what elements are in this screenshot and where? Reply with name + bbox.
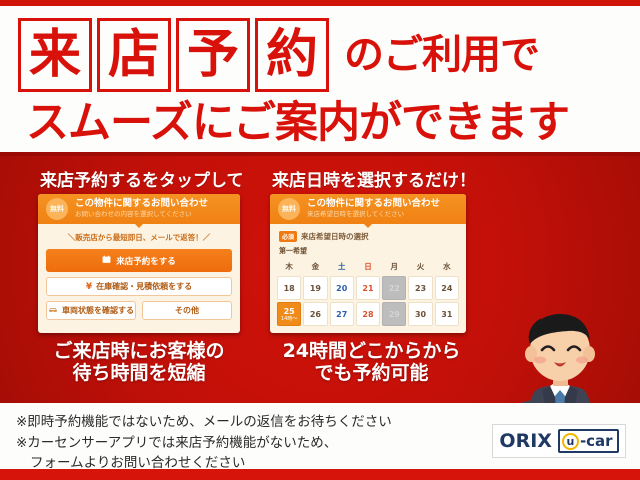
car-icon — [48, 306, 58, 315]
orix-wordmark: ORIX — [499, 430, 552, 452]
headline-kanji-3: 予 — [176, 18, 250, 92]
calendar-card-header: 無料 この物件に関するお問い合わせ 来店希望日時を選択してください — [270, 194, 466, 224]
preference-label: 第一希望 — [279, 246, 466, 256]
headline-kanji-4: 約 — [255, 18, 329, 92]
reserve-visit-label: 来店予約をする — [116, 255, 176, 267]
calendar-day[interactable]: 28 — [356, 302, 380, 326]
calendar-weekday-row: 木 金 土 日 月 火 水 — [277, 259, 459, 274]
headline-block: 来 店 予 約 のご利用で スムーズにご案内ができます — [0, 6, 640, 152]
calendar-day[interactable]: 26 — [303, 302, 327, 326]
stock-estimate-button[interactable]: ¥ 在庫確認・見積依頼をする — [46, 277, 232, 296]
weekday-mon: 月 — [382, 259, 406, 274]
calendar-day[interactable]: 21 — [356, 276, 380, 300]
header-notch — [134, 223, 144, 228]
calendar-day[interactable]: 20 — [330, 276, 354, 300]
selected-day-number: 25 — [284, 307, 295, 316]
ucar-badge: u -car — [558, 429, 619, 453]
panel-top-edge — [0, 152, 640, 156]
calendar-section-label: 必須 来店希望日時の選択 — [279, 231, 466, 242]
left-caption: ご来店時にお客様の 待ち時間を短縮 — [14, 340, 264, 385]
calendar-week-row: 18 19 20 21 22 23 24 — [277, 274, 459, 300]
headline-tail: のご利用で — [344, 35, 539, 75]
card-header-subtitle: お問い合わせの内容を選択してください — [75, 211, 208, 218]
calendar-day[interactable]: 27 — [330, 302, 354, 326]
headline-kanji-1: 来 — [18, 18, 92, 92]
selected-day-time: 14時〜 — [281, 317, 297, 322]
date-selection-card: 無料 この物件に関するお問い合わせ 来店希望日時を選択してください 必須 来店希… — [270, 194, 466, 333]
calendar-header-texts: この物件に関するお問い合わせ 来店希望日時を選択してください — [307, 199, 440, 218]
free-badge: 無料 — [46, 198, 68, 220]
calendar-day-selected[interactable]: 25 14時〜 — [277, 302, 301, 326]
card-header-title: この物件に関するお問い合わせ — [75, 199, 208, 210]
calendar-day-disabled: 22 — [382, 276, 406, 300]
right-caption-line1: 24時間どこからから — [264, 340, 479, 362]
ucar-car-text: -car — [580, 432, 613, 450]
calendar-section-text: 来店希望日時の選択 — [301, 231, 369, 242]
weekday-tue: 火 — [408, 259, 432, 274]
weekday-thu: 木 — [277, 259, 301, 274]
lead-text: ＼販売店から最短即日、メールで返答！／ — [38, 232, 240, 243]
left-column-title: 来店予約するをタップして — [40, 166, 244, 191]
left-caption-line2: 待ち時間を短縮 — [14, 362, 264, 384]
calendar-icon — [102, 255, 111, 267]
calendar-day[interactable]: 24 — [435, 276, 459, 300]
notes-block: ※即時予約機能ではないため、メールの返信をお待ちください ※カーセンサーアプリで… — [16, 412, 486, 474]
free-badge: 無料 — [278, 198, 300, 220]
other-label: その他 — [175, 305, 199, 316]
left-caption-line1: ご来店時にお客様の — [14, 340, 264, 362]
calendar-day[interactable]: 18 — [277, 276, 301, 300]
calendar-day[interactable]: 31 — [435, 302, 459, 326]
note-line-2: ※カーセンサーアプリでは来店予約機能がないため、 — [16, 433, 486, 454]
header-notch — [363, 223, 373, 228]
required-badge: 必須 — [279, 231, 297, 242]
salesman-illustration — [492, 304, 630, 403]
calendar-day[interactable]: 30 — [408, 302, 432, 326]
vehicle-condition-label: 車両状態を確認する — [62, 305, 134, 316]
weekday-sun: 日 — [356, 259, 380, 274]
inquiry-form-card: 無料 この物件に関するお問い合わせ お問い合わせの内容を選択してください ＼販売… — [38, 194, 240, 333]
weekday-fri: 金 — [303, 259, 327, 274]
card-header: 無料 この物件に関するお問い合わせ お問い合わせの内容を選択してください — [38, 194, 240, 224]
weekday-wed: 水 — [435, 259, 459, 274]
advertisement-page: 来 店 予 約 のご利用で スムーズにご案内ができます 来店予約するをタップして… — [0, 0, 640, 480]
bottom-red-rule — [0, 469, 640, 480]
other-button[interactable]: その他 — [142, 301, 232, 320]
headline-row-1: 来 店 予 約 のご利用で — [18, 18, 539, 92]
note-line-1: ※即時予約機能ではないため、メールの返信をお待ちください — [16, 412, 486, 433]
yen-icon: ¥ — [86, 282, 92, 292]
calendar-header-title: この物件に関するお問い合わせ — [307, 199, 440, 210]
ucar-u-circle: u — [562, 433, 579, 450]
vehicle-condition-button[interactable]: 車両状態を確認する — [46, 301, 136, 320]
calendar-day-disabled: 29 — [382, 302, 406, 326]
calendar-day[interactable]: 23 — [408, 276, 432, 300]
stock-estimate-label: 在庫確認・見積依頼をする — [96, 281, 192, 292]
headline-row-2: スムーズにご案内ができます — [26, 102, 626, 145]
reserve-visit-button[interactable]: 来店予約をする — [46, 249, 232, 272]
right-column-title: 来店日時を選択するだけ！ — [272, 166, 476, 191]
right-caption-line2: でも予約可能 — [264, 362, 479, 384]
calendar-week-row: 25 14時〜 26 27 28 29 30 31 — [277, 300, 459, 326]
secondary-button-row: 車両状態を確認する その他 — [46, 301, 232, 320]
orix-ucar-logo: ORIX u -car — [492, 424, 626, 458]
weekday-sat: 土 — [330, 259, 354, 274]
headline-kanji-2: 店 — [97, 18, 171, 92]
calendar-grid: 木 金 土 日 月 火 水 18 19 20 21 22 23 24 — [277, 259, 459, 326]
card-header-texts: この物件に関するお問い合わせ お問い合わせの内容を選択してください — [75, 199, 208, 218]
calendar-header-subtitle: 来店希望日時を選択してください — [307, 211, 440, 218]
right-caption: 24時間どこからから でも予約可能 — [264, 340, 479, 385]
red-feature-panel: 来店予約するをタップして 来店日時を選択するだけ！ 無料 この物件に関するお問い… — [0, 152, 640, 403]
calendar-day[interactable]: 19 — [303, 276, 327, 300]
